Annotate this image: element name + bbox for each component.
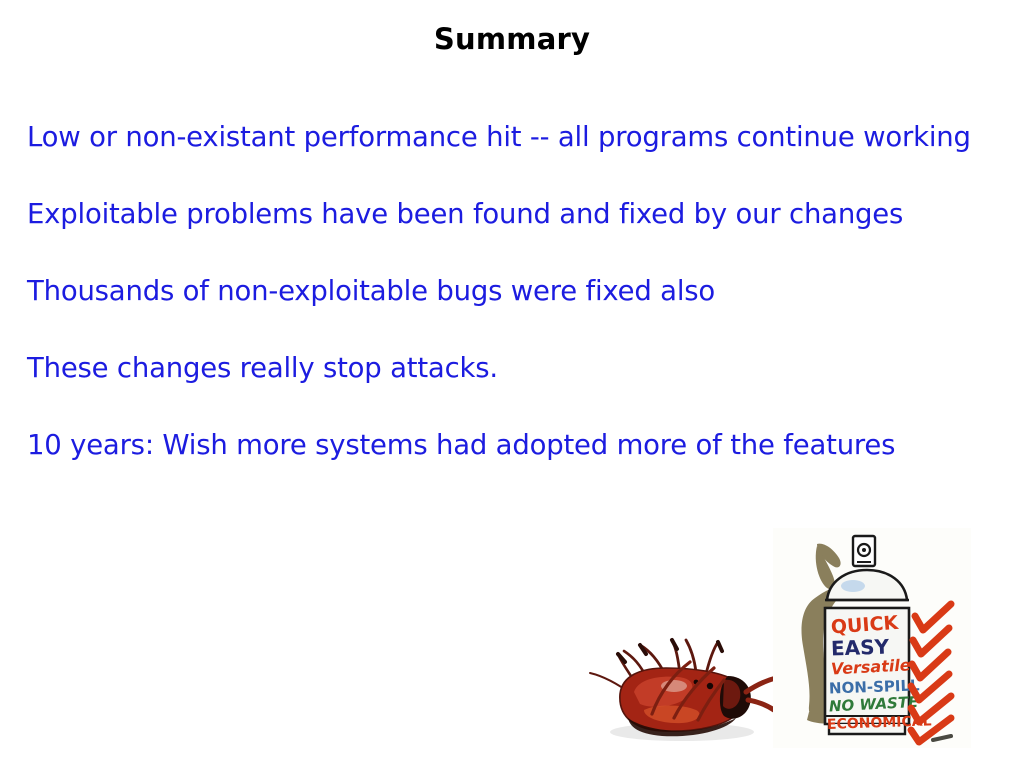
body-line: These changes really stop attacks.: [27, 351, 997, 385]
insecticide-spray-can-illustration: QUICK EASY Versatile NON-SPILL NO WASTE …: [773, 528, 971, 748]
slide-canvas: Summary Low or non-existant performance …: [0, 0, 1024, 768]
body-line: Thousands of non-exploitable bugs were f…: [27, 274, 997, 308]
body-line: 10 years: Wish more systems had adopted …: [27, 428, 997, 462]
page-title: Summary: [0, 22, 1024, 56]
body-line: Low or non-existant performance hit -- a…: [27, 120, 997, 154]
body-line: Exploitable problems have been found and…: [27, 197, 997, 231]
dead-bug-photo: [578, 618, 792, 750]
body-text-block: Low or non-existant performance hit -- a…: [27, 120, 997, 462]
